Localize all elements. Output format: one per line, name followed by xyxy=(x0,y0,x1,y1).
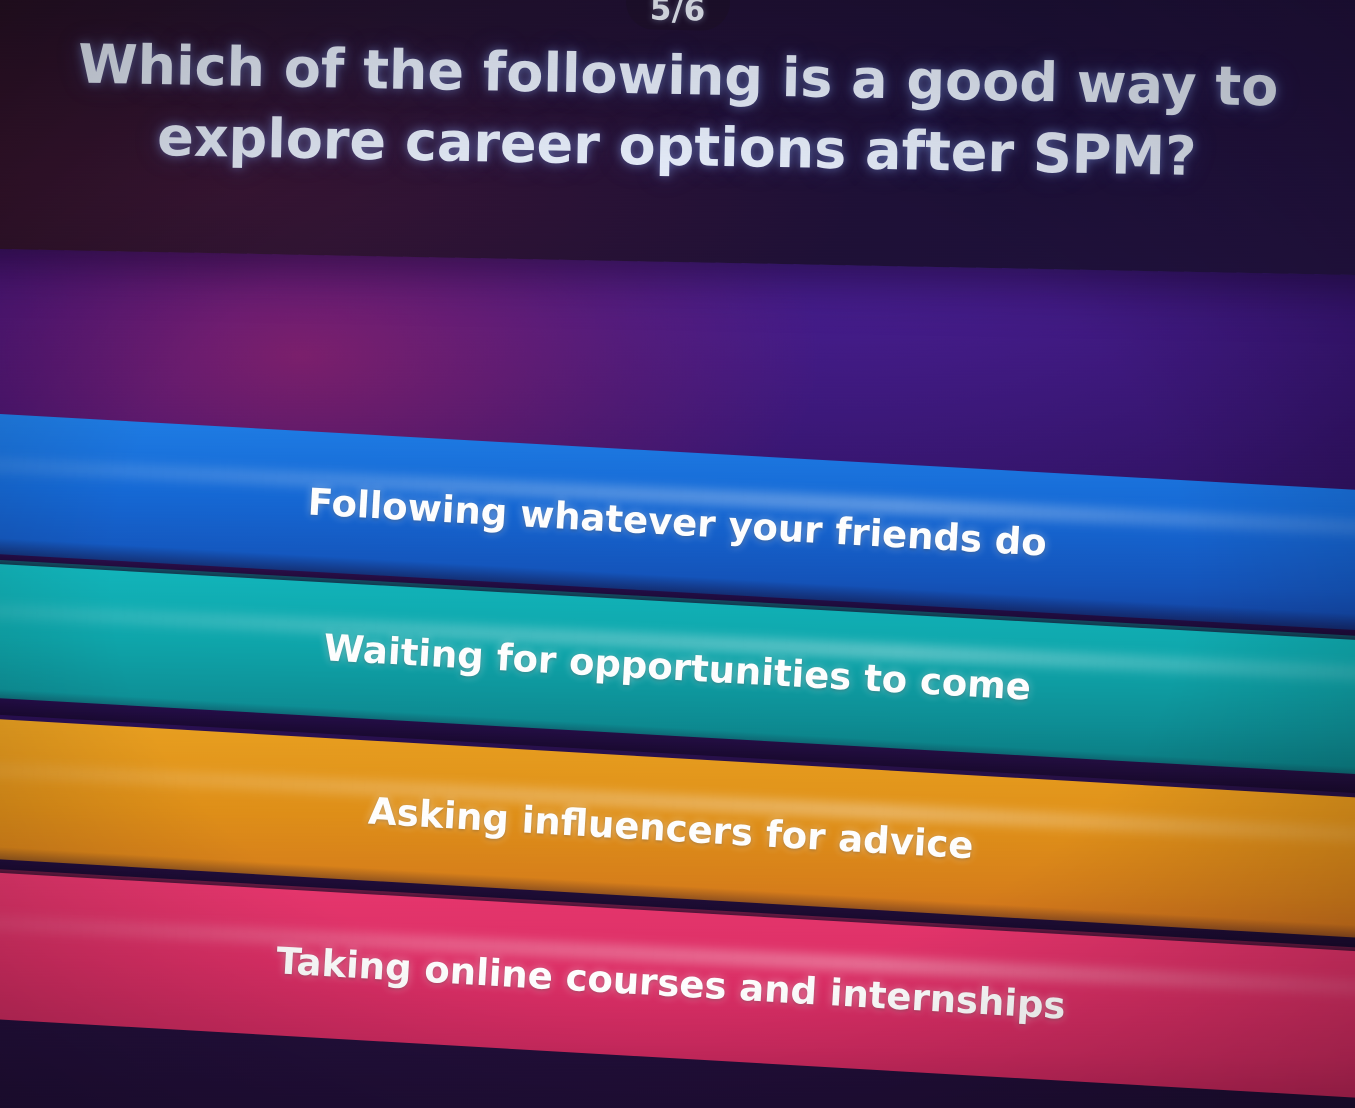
answer-options-list: Following whatever your friends do Waiti… xyxy=(0,0,1355,1108)
answer-label-pink: Taking online courses and internships xyxy=(275,939,1067,1027)
answer-label-teal: Waiting for opportunities to come xyxy=(323,626,1033,708)
answer-label-blue: Following whatever your friends do xyxy=(307,480,1048,564)
question-counter-badge: 5/6 xyxy=(625,0,730,31)
answer-label-orange: Asking influencers for advice xyxy=(367,789,974,867)
quiz-screen: Which of the following is a good way to … xyxy=(0,0,1355,1108)
